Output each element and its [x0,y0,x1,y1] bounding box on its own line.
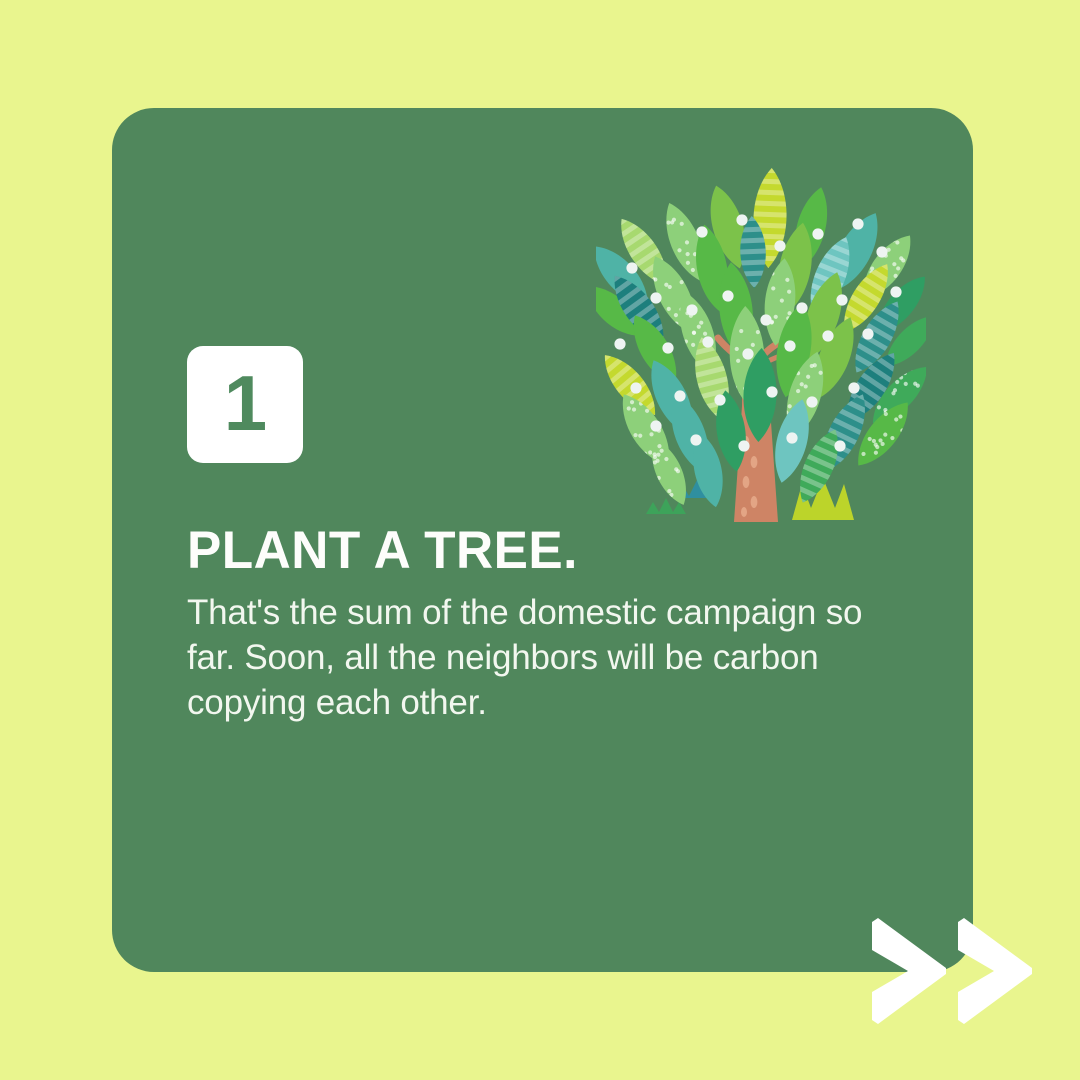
double-chevron-right-icon[interactable] [866,916,1056,1026]
step-number-text: 1 [224,364,266,442]
berry-dot [890,286,901,297]
berry-dot [696,226,707,237]
berry-dot [836,294,847,305]
next-button[interactable] [866,916,1056,1026]
berry-dot [742,348,753,359]
body-text: That's the sum of the domestic campaign … [187,591,902,725]
berry-dot [722,290,733,301]
berry-dot [760,314,771,325]
chevron-1 [872,918,946,1024]
berry-dot [738,440,749,451]
berry-dot [714,394,725,405]
berry-dot [674,390,685,401]
berry-dot [848,382,859,393]
berry-dot [862,328,873,339]
step-number-badge: 1 [187,346,303,463]
berry-dot [766,386,777,397]
berry-dot [702,336,713,347]
berry-dot [834,440,845,451]
berry-dot [786,432,797,443]
tree-illustration [596,150,926,530]
berry-dot [650,292,661,303]
berry-dot [690,434,701,445]
berry-dot [774,240,785,251]
poster-canvas: 1 PLANT A TREE. That's the sum of the do… [0,0,1080,1080]
berry-dot [650,420,661,431]
berry-dot [614,338,625,349]
berry-dot [812,228,823,239]
berry-dot [796,302,807,313]
berry-dot [662,342,673,353]
tree-svg [596,150,926,530]
page-title: PLANT A TREE. [187,524,578,578]
berry-dot [822,330,833,341]
berry-dot [686,304,697,315]
berry-dot [784,340,795,351]
berry-dot [736,214,747,225]
berry-dot [806,396,817,407]
berry-dot [626,262,637,273]
chevron-2 [958,918,1032,1024]
berry-dot [630,382,641,393]
berry-dot [852,218,863,229]
berry-dot [876,246,887,257]
